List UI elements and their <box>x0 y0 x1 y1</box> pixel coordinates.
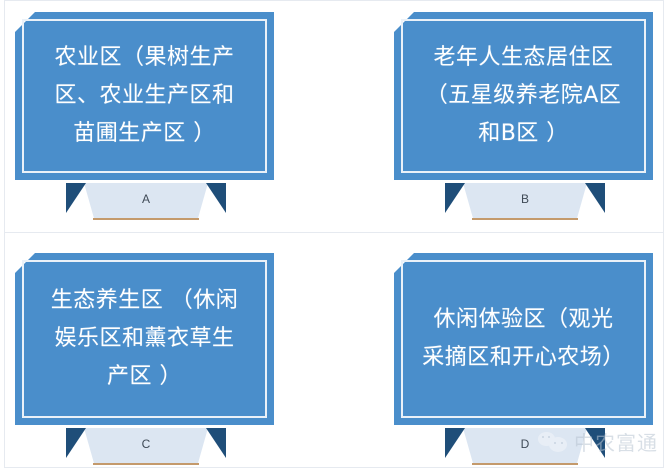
zone-card-a[interactable]: 农业区（果树生产 区、农业生产区和 苗圃生产区 ） <box>15 12 274 180</box>
zone-card-b[interactable]: 老年人生态居住区 （五星级养老院A区 和B区 ） <box>394 12 653 180</box>
zone-card-b-text: 老年人生态居住区 （五星级养老院A区 和B区 ） <box>408 12 639 180</box>
zone-node-a[interactable]: 农业区（果树生产 区、农业生产区和 苗圃生产区 ） <box>15 12 274 180</box>
zone-ribbon-b-label: B <box>445 183 605 215</box>
background-line-top <box>4 0 664 1</box>
zone-node-c[interactable]: 生态养生区 （休闲 娱乐区和薰衣草生 产区 ） <box>15 253 274 425</box>
zone-ribbon-b[interactable]: B <box>445 183 605 223</box>
zone-card-d[interactable]: 休闲体验区（观光 采摘区和开心农场） <box>394 253 653 425</box>
zone-card-d-text: 休闲体验区（观光 采摘区和开心农场） <box>408 253 639 425</box>
zone-ribbon-a-label: A <box>66 183 226 215</box>
zone-ribbon-a[interactable]: A <box>66 183 226 223</box>
zone-node-b[interactable]: 老年人生态居住区 （五星级养老院A区 和B区 ） <box>394 12 653 180</box>
ribbon-underline <box>93 463 199 465</box>
diagram-canvas: 农业区（果树生产 区、农业生产区和 苗圃生产区 ） A 老年人生态居住区 （五星… <box>0 0 668 468</box>
zone-ribbon-c-label: C <box>66 428 226 460</box>
zone-card-c[interactable]: 生态养生区 （休闲 娱乐区和薰衣草生 产区 ） <box>15 253 274 425</box>
zone-ribbon-d-label: D <box>445 428 605 460</box>
zone-ribbon-d[interactable]: D <box>445 428 605 468</box>
ribbon-underline <box>472 463 578 465</box>
background-line-middle <box>4 232 664 233</box>
zone-ribbon-c[interactable]: C <box>66 428 226 468</box>
ribbon-underline <box>93 218 199 220</box>
zone-card-a-text: 农业区（果树生产 区、农业生产区和 苗圃生产区 ） <box>29 12 260 180</box>
zone-node-d[interactable]: 休闲体验区（观光 采摘区和开心农场） <box>394 253 653 425</box>
zone-card-c-text: 生态养生区 （休闲 娱乐区和薰衣草生 产区 ） <box>29 253 260 425</box>
ribbon-underline <box>472 218 578 220</box>
